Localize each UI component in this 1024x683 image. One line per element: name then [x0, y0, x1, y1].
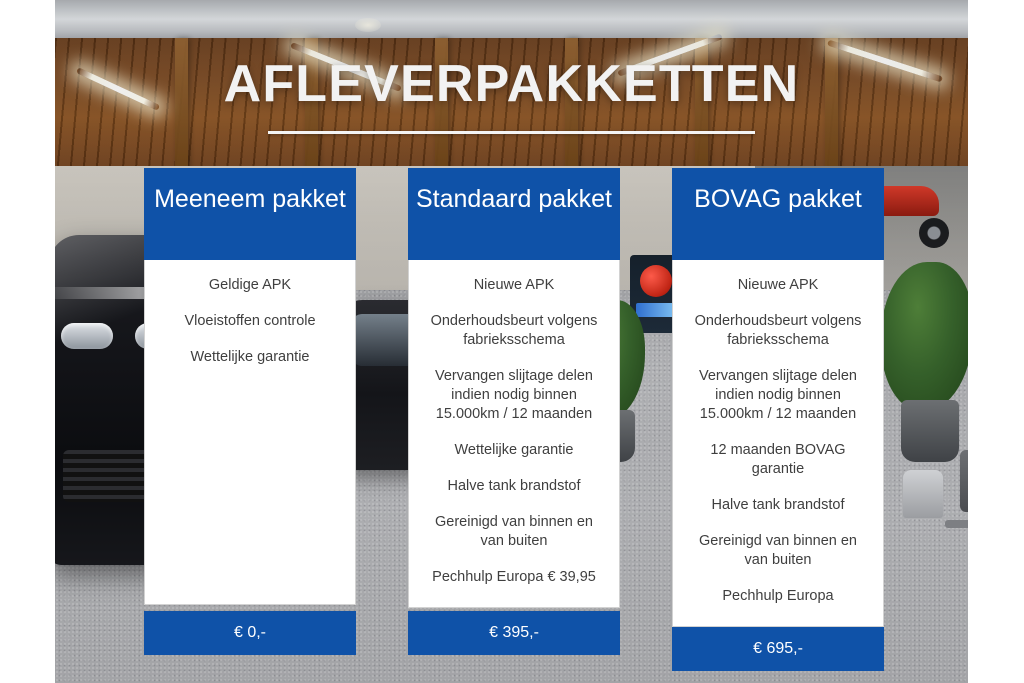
pricing-graphic: AFLEVERPAKKETTEN Meeneem pakket Geldige …: [0, 0, 1024, 683]
package-feature: Nieuwe APK: [687, 276, 869, 295]
package-feature: 12 maanden BOVAG garantie: [687, 441, 869, 479]
lounge-table: [945, 520, 968, 528]
package-feature: Halve tank brandstof: [687, 496, 869, 515]
lounge-sofa: [960, 450, 968, 512]
ceiling-beam: [55, 0, 968, 40]
package-feature: Nieuwe APK: [423, 276, 605, 295]
package-card-meeneem[interactable]: Meeneem pakket Geldige APK Vloeistoffen …: [144, 168, 356, 655]
lounge-chair: [903, 470, 943, 518]
package-title: Meeneem pakket: [144, 168, 356, 260]
car-headlight: [61, 323, 113, 349]
package-feature: Vloeistoffen controle: [159, 312, 341, 331]
package-feature-list: Geldige APK Vloeistoffen controle Wettel…: [144, 260, 356, 605]
package-feature: Wettelijke garantie: [423, 441, 605, 460]
package-price: € 695,-: [672, 627, 884, 671]
package-feature: Onderhoudsbeurt volgens fabrieksschema: [687, 312, 869, 350]
package-feature: Gereinigd van binnen en van buiten: [687, 532, 869, 570]
package-cards: Meeneem pakket Geldige APK Vloeistoffen …: [144, 168, 884, 671]
package-feature-list: Nieuwe APK Onderhoudsbeurt volgens fabri…: [672, 260, 884, 627]
package-feature: Vervangen slijtage delen indien nodig bi…: [687, 367, 869, 424]
scooter-wheel: [919, 218, 949, 248]
package-card-standaard[interactable]: Standaard pakket Nieuwe APK Onderhoudsbe…: [408, 168, 620, 655]
plant-right: [881, 262, 968, 412]
header: AFLEVERPAKKETTEN: [55, 55, 968, 134]
plant-pot-right: [901, 400, 959, 462]
package-feature: Onderhoudsbeurt volgens fabrieksschema: [423, 312, 605, 350]
page-title: AFLEVERPAKKETTEN: [55, 55, 968, 113]
package-feature: Pechhulp Europa: [687, 587, 869, 606]
package-price: € 395,-: [408, 611, 620, 655]
package-title: BOVAG pakket: [672, 168, 884, 260]
package-feature-list: Nieuwe APK Onderhoudsbeurt volgens fabri…: [408, 260, 620, 608]
package-feature: Gereinigd van binnen en van buiten: [423, 513, 605, 551]
package-feature: Geldige APK: [159, 276, 341, 295]
package-title: Standaard pakket: [408, 168, 620, 260]
package-price: € 0,-: [144, 611, 356, 655]
package-feature: Pechhulp Europa € 39,95: [423, 568, 605, 587]
title-divider: [268, 131, 755, 134]
package-feature: Halve tank brandstof: [423, 477, 605, 496]
package-feature: Wettelijke garantie: [159, 348, 341, 367]
package-feature: Vervangen slijtage delen indien nodig bi…: [423, 367, 605, 424]
ceiling-light-glow: [355, 18, 381, 32]
package-card-bovag[interactable]: BOVAG pakket Nieuwe APK Onderhoudsbeurt …: [672, 168, 884, 671]
